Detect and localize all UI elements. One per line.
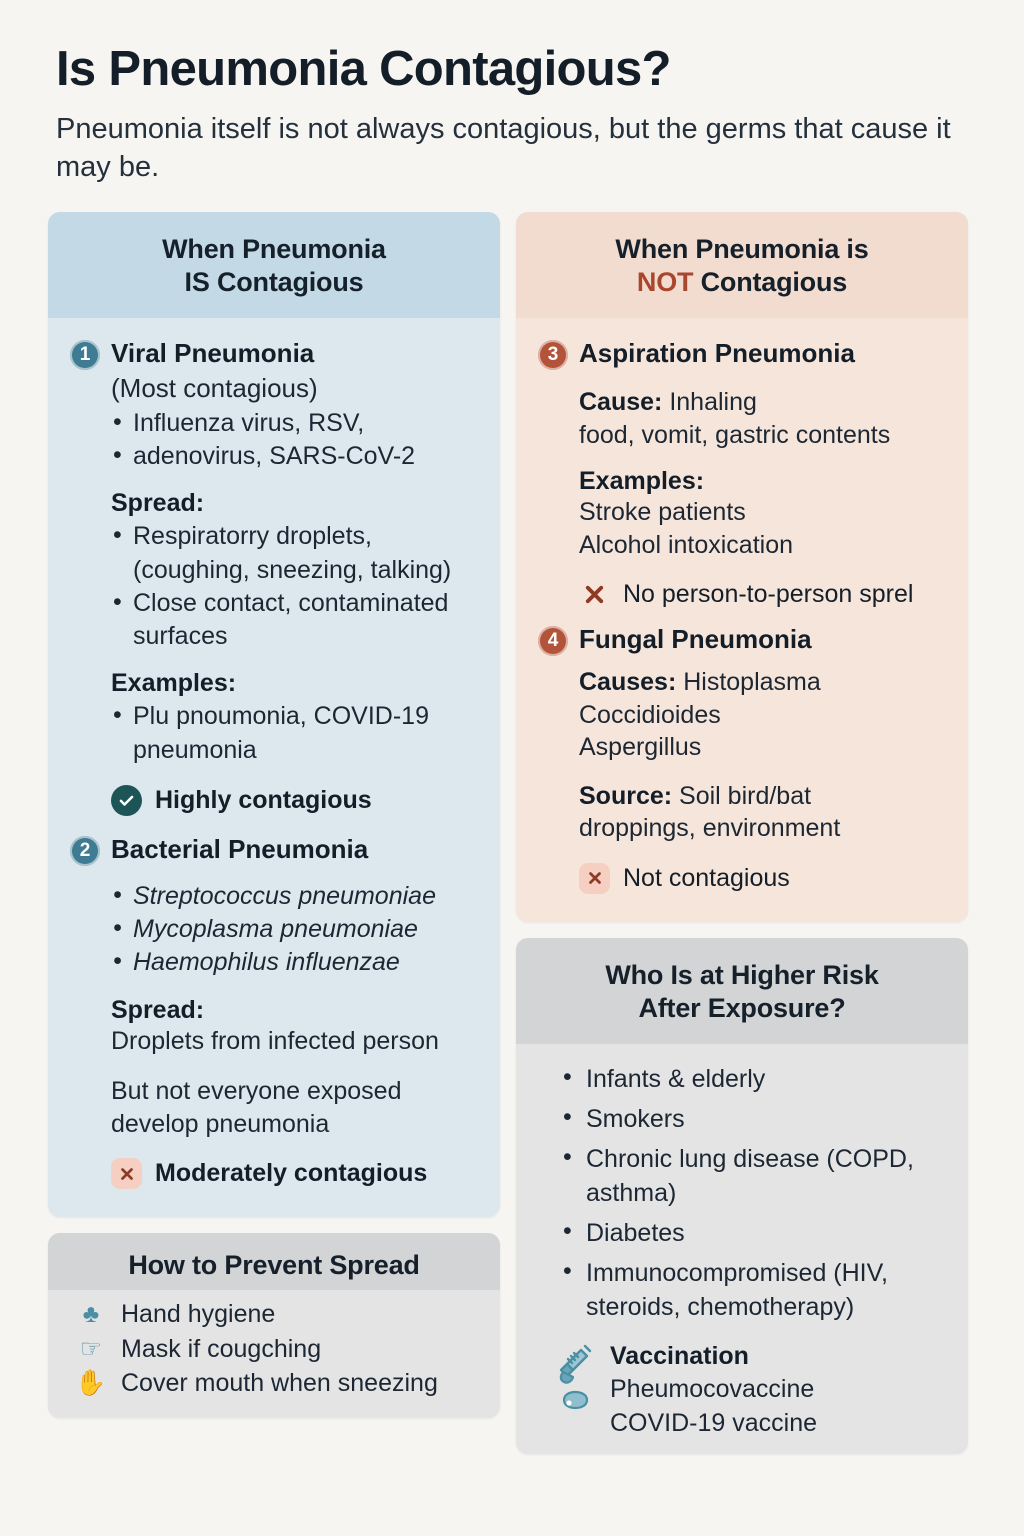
bacterial-note: But not everyone exposed develop pneumon…	[111, 1075, 478, 1140]
card-not-contagious-body: 3 Aspiration Pneumonia Cause: Inhaling f…	[516, 318, 968, 922]
causes-value: Histoplasma	[676, 668, 821, 696]
aspiration-cause-detail: food, vomit, gastric contents	[579, 419, 946, 452]
item-title-aspiration: Aspiration Pneumonia	[579, 336, 855, 370]
viral-spread-label: Spread:	[111, 489, 478, 518]
prevent-item-mask: ☞ Mask if cougching	[74, 1333, 478, 1366]
list-item: Mycoplasma pneumoniae	[111, 913, 478, 946]
risk-list: Infants & elderly Smokers Chronic lung d…	[560, 1062, 946, 1324]
vaccination-line-1: Pheumocovaccine	[610, 1373, 817, 1407]
list-item: Infants & elderly	[560, 1062, 946, 1096]
status-label: No person-to-person sprel	[623, 580, 913, 609]
bacterial-spread-text: Droplets from infected person	[111, 1025, 478, 1058]
cause-label: Cause:	[579, 388, 662, 416]
item-aspiration-pneumonia: 3 Aspiration Pneumonia	[538, 336, 946, 370]
viral-spread-list: Respiratorry droplets, (coughing, sneezi…	[111, 520, 478, 653]
syringe-icon	[555, 1342, 595, 1386]
fungal-source-detail: droppings, environment	[579, 812, 946, 845]
status-label: Moderately contagious	[155, 1159, 427, 1188]
card-prevent-header: How to Prevent Spread	[48, 1233, 500, 1290]
page-subtitle: Pneumonia itself is not always contagiou…	[56, 111, 976, 186]
left-column: When Pneumonia IS Contagious 1 Viral Pne…	[48, 212, 500, 1417]
number-badge-1: 1	[70, 340, 100, 370]
card-header-line-1: When Pneumonia	[70, 233, 478, 266]
vaccination-block: Vaccination Pheumocovaccine COVID-19 vac…	[552, 1340, 946, 1441]
item-bacterial-pneumonia: 2 Bacterial Pneumonia	[70, 832, 478, 866]
list-item: Respiratorry droplets, (coughing, sneezi…	[111, 520, 478, 587]
card-higher-risk-body: Infants & elderly Smokers Chronic lung d…	[516, 1044, 968, 1455]
vaccination-row: Vaccination Pheumocovaccine COVID-19 vac…	[552, 1340, 946, 1441]
card-is-contagious: When Pneumonia IS Contagious 1 Viral Pne…	[48, 212, 500, 1217]
bacterial-spread-label: Spread:	[111, 996, 478, 1025]
card-is-contagious-header: When Pneumonia IS Contagious	[48, 212, 500, 318]
card-header-line-1: When Pneumonia is	[538, 233, 946, 266]
list-item: Chronic lung disease (COPD, asthma)	[560, 1142, 946, 1210]
infographic-page: Is Pneumonia Contagious? Pneumonia itsel…	[0, 0, 1024, 1536]
card-higher-risk-header: Who Is at Higher Risk After Exposure?	[516, 938, 968, 1044]
number-badge-2: 2	[70, 836, 100, 866]
x-square-icon	[579, 863, 610, 894]
cause-value: Inhaling	[662, 388, 757, 416]
page-title: Is Pneumonia Contagious?	[56, 44, 976, 95]
viral-examples-label: Examples:	[111, 669, 478, 698]
fungal-source: Source: Soil bird/bat	[579, 780, 946, 813]
aspiration-examples-label: Examples:	[579, 467, 946, 496]
list-item: Streptococcus pneumoniae	[111, 880, 478, 913]
vaccine-bottle-icon	[558, 1388, 592, 1412]
source-label: Source:	[579, 782, 672, 810]
hand-soap-icon: ♣	[74, 1298, 108, 1331]
vaccination-icons	[552, 1340, 598, 1412]
status-badge-moderately-contagious: Moderately contagious	[111, 1158, 478, 1189]
x-icon	[579, 579, 610, 610]
card-prevent-body: ♣ Hand hygiene ☞ Mask if cougching ✋ Cov…	[48, 1290, 500, 1418]
right-column: When Pneumonia is NOT Contagious 3 Aspir…	[516, 212, 968, 1454]
aspiration-example-1: Stroke patients	[579, 496, 946, 529]
source-value: Soil bird/bat	[672, 782, 811, 810]
viral-examples-list: Plu pnoumonia, COVID-19 pneumonia	[111, 700, 478, 767]
list-item: Haemophilus influenzae	[111, 946, 478, 979]
list-item: adenovirus, SARS-CoV-2	[111, 440, 478, 473]
list-item: Influenza virus, RSV,	[111, 407, 478, 440]
status-label: Highly contagious	[155, 786, 372, 815]
x-circle-icon	[111, 1158, 142, 1189]
vaccination-line-2: COVID-19 vaccine	[610, 1407, 817, 1441]
prevent-item-cover-mouth: ✋ Cover mouth when sneezing	[74, 1367, 478, 1400]
fungal-cause-2: Coccidioides	[579, 699, 946, 732]
viral-causes-list: Influenza virus, RSV, adenovirus, SARS-C…	[111, 407, 478, 474]
aspiration-cause: Cause: Inhaling	[579, 386, 946, 419]
card-header-line-2: After Exposure?	[538, 992, 946, 1025]
item-title-fungal: Fungal Pneumonia	[579, 622, 812, 656]
check-circle-icon	[111, 785, 142, 816]
item-viral-pneumonia: 1 Viral Pneumonia	[70, 336, 478, 370]
number-badge-3: 3	[538, 340, 568, 370]
fungal-cause-3: Aspergillus	[579, 731, 946, 764]
list-item: Diabetes	[560, 1216, 946, 1250]
card-higher-risk: Who Is at Higher Risk After Exposure? In…	[516, 938, 968, 1454]
columns-container: When Pneumonia IS Contagious 1 Viral Pne…	[48, 212, 976, 1454]
causes-label: Causes:	[579, 668, 676, 696]
list-item: Smokers	[560, 1102, 946, 1136]
card-not-contagious: When Pneumonia is NOT Contagious 3 Aspir…	[516, 212, 968, 921]
open-hand-icon: ✋	[74, 1367, 108, 1400]
not-emphasis: NOT	[637, 267, 693, 297]
aspiration-example-2: Alcohol intoxication	[579, 529, 946, 562]
card-is-contagious-body: 1 Viral Pneumonia (Most contagious) Infl…	[48, 318, 500, 1217]
card-not-contagious-header: When Pneumonia is NOT Contagious	[516, 212, 968, 318]
status-badge-highly-contagious: Highly contagious	[111, 785, 478, 816]
list-item: Immunocompromised (HIV, steroids, chemot…	[560, 1256, 946, 1324]
status-badge-not-contagious: Not contagious	[579, 863, 946, 894]
item-subnote-viral: (Most contagious)	[111, 372, 478, 405]
list-item: Plu pnoumonia, COVID-19 pneumonia	[111, 700, 478, 767]
pointing-hand-icon: ☞	[74, 1333, 108, 1366]
status-label: Not contagious	[623, 864, 790, 893]
card-prevent-spread: How to Prevent Spread ♣ Hand hygiene ☞ M…	[48, 1233, 500, 1417]
item-fungal-pneumonia: 4 Fungal Pneumonia	[538, 622, 946, 656]
prevent-item-label: Cover mouth when sneezing	[121, 1367, 438, 1400]
prevent-item-label: Mask if cougching	[121, 1333, 321, 1366]
card-header-rest: Contagious	[693, 267, 847, 297]
item-title-bacterial: Bacterial Pneumonia	[111, 832, 368, 866]
prevent-item-hand-hygiene: ♣ Hand hygiene	[74, 1298, 478, 1331]
prevent-item-label: Hand hygiene	[121, 1298, 275, 1331]
card-header-line-2: NOT Contagious	[538, 266, 946, 299]
bacterial-causes-list: Streptococcus pneumoniae Mycoplasma pneu…	[111, 880, 478, 980]
list-item: Close contact, contaminated surfaces	[111, 587, 478, 654]
card-header-line-2: IS Contagious	[70, 266, 478, 299]
status-badge-no-person-to-person: No person-to-person sprel	[579, 579, 946, 610]
number-badge-4: 4	[538, 626, 568, 656]
card-header-line-1: Who Is at Higher Risk	[538, 959, 946, 992]
vaccination-title: Vaccination	[610, 1340, 817, 1374]
fungal-causes: Causes: Histoplasma	[579, 666, 946, 699]
item-title-viral: Viral Pneumonia	[111, 336, 314, 370]
vaccination-text: Vaccination Pheumocovaccine COVID-19 vac…	[610, 1340, 817, 1441]
